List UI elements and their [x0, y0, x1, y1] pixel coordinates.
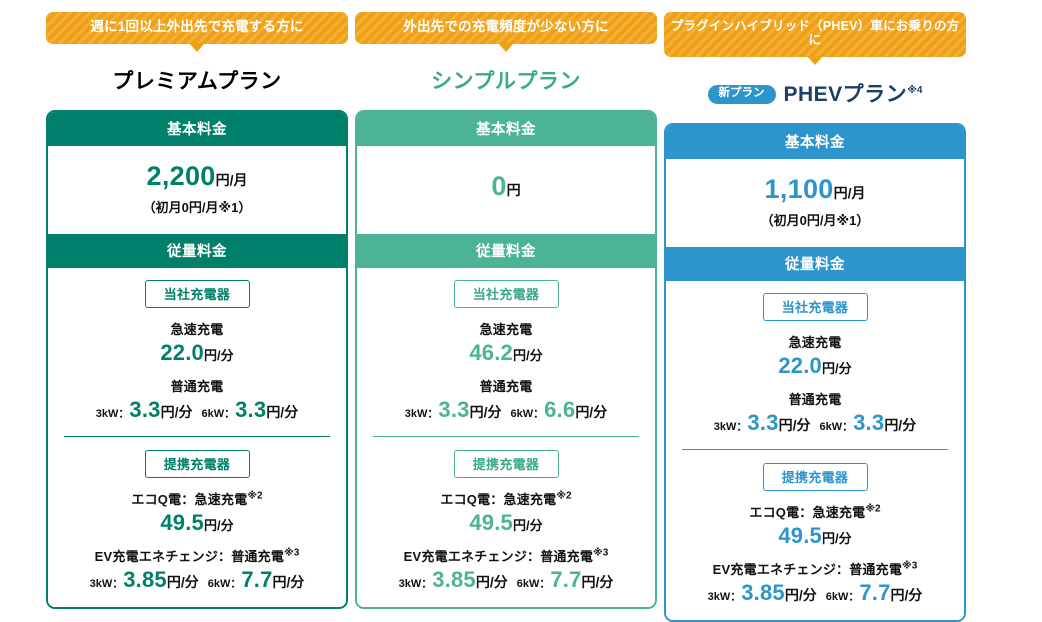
partner-charger-tag: 提携充電器	[145, 450, 250, 478]
plan-comparison-row: 週に1回以上外出先で充電する方に プレミアムプラン 基本料金 2,200円/月 …	[0, 0, 1042, 622]
ecoq-rapid-text: エコQ電：急速充電	[749, 505, 865, 520]
own-normal-3kw-unit: 円/分	[779, 417, 811, 433]
partner-normal-prices: 3kW：3.85円/分6kW：7.7円/分	[680, 580, 950, 606]
normal-charge-label: 普通充電	[371, 376, 641, 395]
note3-sup: ※3	[593, 548, 608, 559]
basic-fee-note: （初月0円/月※1）	[761, 210, 870, 229]
usage-fee-body: 当社充電器 急速充電 46.2円/分 普通充電 3kW：3.3円/分6kW：6.…	[357, 268, 655, 607]
partner-normal-3kw-label: 3kW：	[90, 578, 124, 590]
normal-charge-label: 普通充電	[680, 389, 950, 408]
enechange-normal-text: EV充電エネチェンジ：普通充電	[95, 549, 284, 564]
note2-sup: ※2	[247, 491, 262, 502]
own-rapid-price: 22.0円/分	[62, 341, 332, 365]
partner-normal-6kw-unit: 円/分	[582, 574, 614, 590]
note3-sup: ※3	[284, 548, 299, 559]
own-normal-3kw-label: 3kW：	[714, 421, 748, 433]
basic-fee-unit: 円/月	[834, 185, 866, 201]
own-charger-tag: 当社充電器	[454, 280, 559, 308]
own-rapid-amount: 22.0	[160, 340, 204, 365]
plan-title-text: シンプルプラン	[431, 71, 581, 92]
plan-details-card-simple: 基本料金 0円 従量料金 当社充電器 急速充電 46.2円/分 普通充電 3kW…	[355, 110, 657, 609]
section-divider	[373, 436, 639, 437]
own-normal-prices: 3kW：3.3円/分6kW：3.3円/分	[680, 410, 950, 436]
plan-title-text: プレミアムプラン	[112, 71, 281, 92]
plan-title-main: PHEVプラン	[784, 83, 908, 106]
own-normal-6kw-unit: 円/分	[884, 417, 916, 433]
partner-normal-6kw-amount: 7.7	[241, 567, 272, 592]
basic-fee-body: 2,200円/月 （初月0円/月※1）	[48, 146, 346, 234]
own-normal-3kw-label: 3kW：	[96, 408, 130, 420]
basic-fee-price: 1,100円/月	[765, 176, 866, 203]
section-divider	[682, 449, 948, 450]
own-charger-tag: 当社充電器	[763, 293, 868, 321]
basic-fee-price: 0円	[491, 173, 520, 200]
basic-fee-unit: 円	[507, 182, 521, 198]
partner-normal-3kw-unit: 円/分	[476, 574, 508, 590]
own-normal-6kw-label: 6kW：	[820, 421, 854, 433]
own-normal-6kw-unit: 円/分	[266, 404, 298, 420]
partner-normal-6kw-amount: 7.7	[859, 580, 890, 605]
own-rapid-price: 22.0円/分	[680, 354, 950, 378]
own-normal-prices: 3kW：3.3円/分6kW：6.6円/分	[371, 397, 641, 423]
partner-rapid-price: 49.5円/分	[371, 511, 641, 535]
usage-fee-band: 従量料金	[48, 234, 346, 268]
enechange-normal-label: EV充電エネチェンジ：普通充電※3	[371, 546, 641, 565]
plan-title-simple: シンプルプラン	[431, 65, 581, 99]
partner-normal-3kw-amount: 3.85	[432, 567, 476, 592]
partner-rapid-amount: 49.5	[160, 510, 204, 535]
rapid-charge-label: 急速充電	[62, 319, 332, 338]
own-charger-tag: 当社充電器	[145, 280, 250, 308]
partner-rapid-amount: 49.5	[778, 523, 822, 548]
note2-sup: ※2	[556, 491, 571, 502]
partner-normal-6kw-unit: 円/分	[891, 587, 923, 603]
partner-normal-3kw-unit: 円/分	[785, 587, 817, 603]
partner-rapid-price: 49.5円/分	[62, 511, 332, 535]
partner-normal-prices: 3kW：3.85円/分6kW：7.7円/分	[371, 567, 641, 593]
partner-rapid-unit: 円/分	[204, 518, 234, 533]
own-normal-6kw-amount: 6.6	[544, 397, 575, 422]
own-rapid-amount: 46.2	[469, 340, 513, 365]
usage-fee-body: 当社充電器 急速充電 22.0円/分 普通充電 3kW：3.3円/分6kW：3.…	[666, 281, 964, 620]
ecoq-rapid-text: エコQ電：急速充電	[440, 492, 556, 507]
own-rapid-unit: 円/分	[204, 348, 234, 363]
own-rapid-unit: 円/分	[513, 348, 543, 363]
rapid-charge-label: 急速充電	[371, 319, 641, 338]
basic-fee-body: 1,100円/月 （初月0円/月※1）	[666, 159, 964, 247]
own-normal-3kw-unit: 円/分	[161, 404, 193, 420]
own-normal-6kw-label: 6kW：	[511, 408, 545, 420]
own-rapid-unit: 円/分	[822, 361, 852, 376]
partner-normal-3kw-unit: 円/分	[167, 574, 199, 590]
enechange-normal-label: EV充電エネチェンジ：普通充電※3	[62, 546, 332, 565]
note3-sup: ※3	[902, 561, 917, 572]
own-normal-prices: 3kW：3.3円/分6kW：3.3円/分	[62, 397, 332, 423]
plan-ribbon-simple: 外出先での充電頻度が少ない方に	[355, 12, 657, 44]
plan-card-simple: 外出先での充電頻度が少ない方に シンプルプラン 基本料金 0円 従量料金 当社充…	[355, 12, 657, 609]
plan-title-premium: プレミアムプラン	[112, 65, 281, 99]
partner-normal-6kw-label: 6kW：	[826, 591, 860, 603]
plan-details-card-premium: 基本料金 2,200円/月 （初月0円/月※1） 従量料金 当社充電器 急速充電…	[46, 110, 348, 609]
note2-sup: ※2	[865, 503, 880, 514]
partner-charger-tag: 提携充電器	[763, 463, 868, 491]
partner-normal-6kw-label: 6kW：	[208, 578, 242, 590]
partner-normal-6kw-amount: 7.7	[550, 567, 581, 592]
section-divider	[64, 436, 330, 437]
partner-normal-3kw-amount: 3.85	[123, 567, 167, 592]
partner-rapid-price: 49.5円/分	[680, 524, 950, 548]
usage-fee-band: 従量料金	[357, 234, 655, 268]
basic-fee-band: 基本料金	[48, 112, 346, 146]
own-normal-3kw-label: 3kW：	[405, 408, 439, 420]
usage-fee-body: 当社充電器 急速充電 22.0円/分 普通充電 3kW：3.3円/分6kW：3.…	[48, 268, 346, 607]
partner-normal-3kw-amount: 3.85	[741, 580, 785, 605]
enechange-normal-text: EV充電エネチェンジ：普通充電	[713, 562, 902, 577]
partner-normal-6kw-unit: 円/分	[273, 574, 305, 590]
basic-fee-band: 基本料金	[357, 112, 655, 146]
own-normal-3kw-unit: 円/分	[470, 404, 502, 420]
note4-sup: ※4	[907, 85, 922, 96]
basic-fee-amount: 1,100	[765, 174, 834, 204]
own-normal-3kw-amount: 3.3	[129, 397, 160, 422]
basic-fee-unit: 円/月	[216, 172, 248, 188]
own-normal-6kw-unit: 円/分	[575, 404, 607, 420]
own-normal-6kw-amount: 3.3	[853, 410, 884, 435]
plan-title-text: PHEVプラン※4	[784, 84, 923, 105]
partner-rapid-amount: 49.5	[469, 510, 513, 535]
basic-fee-amount: 2,200	[147, 161, 216, 191]
partner-charger-tag: 提携充電器	[454, 450, 559, 478]
new-plan-badge: 新プラン	[708, 85, 776, 104]
plan-ribbon-phev: プラグインハイブリッド（PHEV）車にお乗りの方に	[664, 12, 966, 57]
partner-normal-prices: 3kW：3.85円/分6kW：7.7円/分	[62, 567, 332, 593]
partner-rapid-unit: 円/分	[822, 531, 852, 546]
normal-charge-label: 普通充電	[62, 376, 332, 395]
partner-normal-3kw-label: 3kW：	[708, 591, 742, 603]
plan-card-premium: 週に1回以上外出先で充電する方に プレミアムプラン 基本料金 2,200円/月 …	[46, 12, 348, 609]
own-normal-3kw-amount: 3.3	[438, 397, 469, 422]
own-rapid-price: 46.2円/分	[371, 341, 641, 365]
partner-normal-6kw-label: 6kW：	[517, 578, 551, 590]
own-normal-6kw-label: 6kW：	[202, 408, 236, 420]
partner-normal-3kw-label: 3kW：	[399, 578, 433, 590]
enechange-normal-label: EV充電エネチェンジ：普通充電※3	[680, 559, 950, 578]
plan-card-phev: プラグインハイブリッド（PHEV）車にお乗りの方に 新プラン PHEVプラン※4…	[664, 12, 966, 622]
basic-fee-note: （初月0円/月※1）	[143, 197, 252, 216]
ecoq-rapid-label: エコQ電：急速充電※2	[371, 489, 641, 508]
basic-fee-amount: 0	[491, 171, 506, 201]
usage-fee-band: 従量料金	[666, 247, 964, 281]
own-normal-6kw-amount: 3.3	[235, 397, 266, 422]
basic-fee-body: 0円	[357, 146, 655, 234]
ecoq-rapid-text: エコQ電：急速充電	[131, 492, 247, 507]
basic-fee-band: 基本料金	[666, 125, 964, 159]
plan-title-phev: 新プラン PHEVプラン※4	[708, 78, 923, 112]
plan-details-card-phev: 基本料金 1,100円/月 （初月0円/月※1） 従量料金 当社充電器 急速充電…	[664, 123, 966, 622]
plan-ribbon-premium: 週に1回以上外出先で充電する方に	[46, 12, 348, 44]
enechange-normal-text: EV充電エネチェンジ：普通充電	[404, 549, 593, 564]
ecoq-rapid-label: エコQ電：急速充電※2	[62, 489, 332, 508]
own-rapid-amount: 22.0	[778, 353, 822, 378]
own-normal-3kw-amount: 3.3	[747, 410, 778, 435]
rapid-charge-label: 急速充電	[680, 332, 950, 351]
basic-fee-price: 2,200円/月	[147, 163, 248, 190]
partner-rapid-unit: 円/分	[513, 518, 543, 533]
ecoq-rapid-label: エコQ電：急速充電※2	[680, 502, 950, 521]
